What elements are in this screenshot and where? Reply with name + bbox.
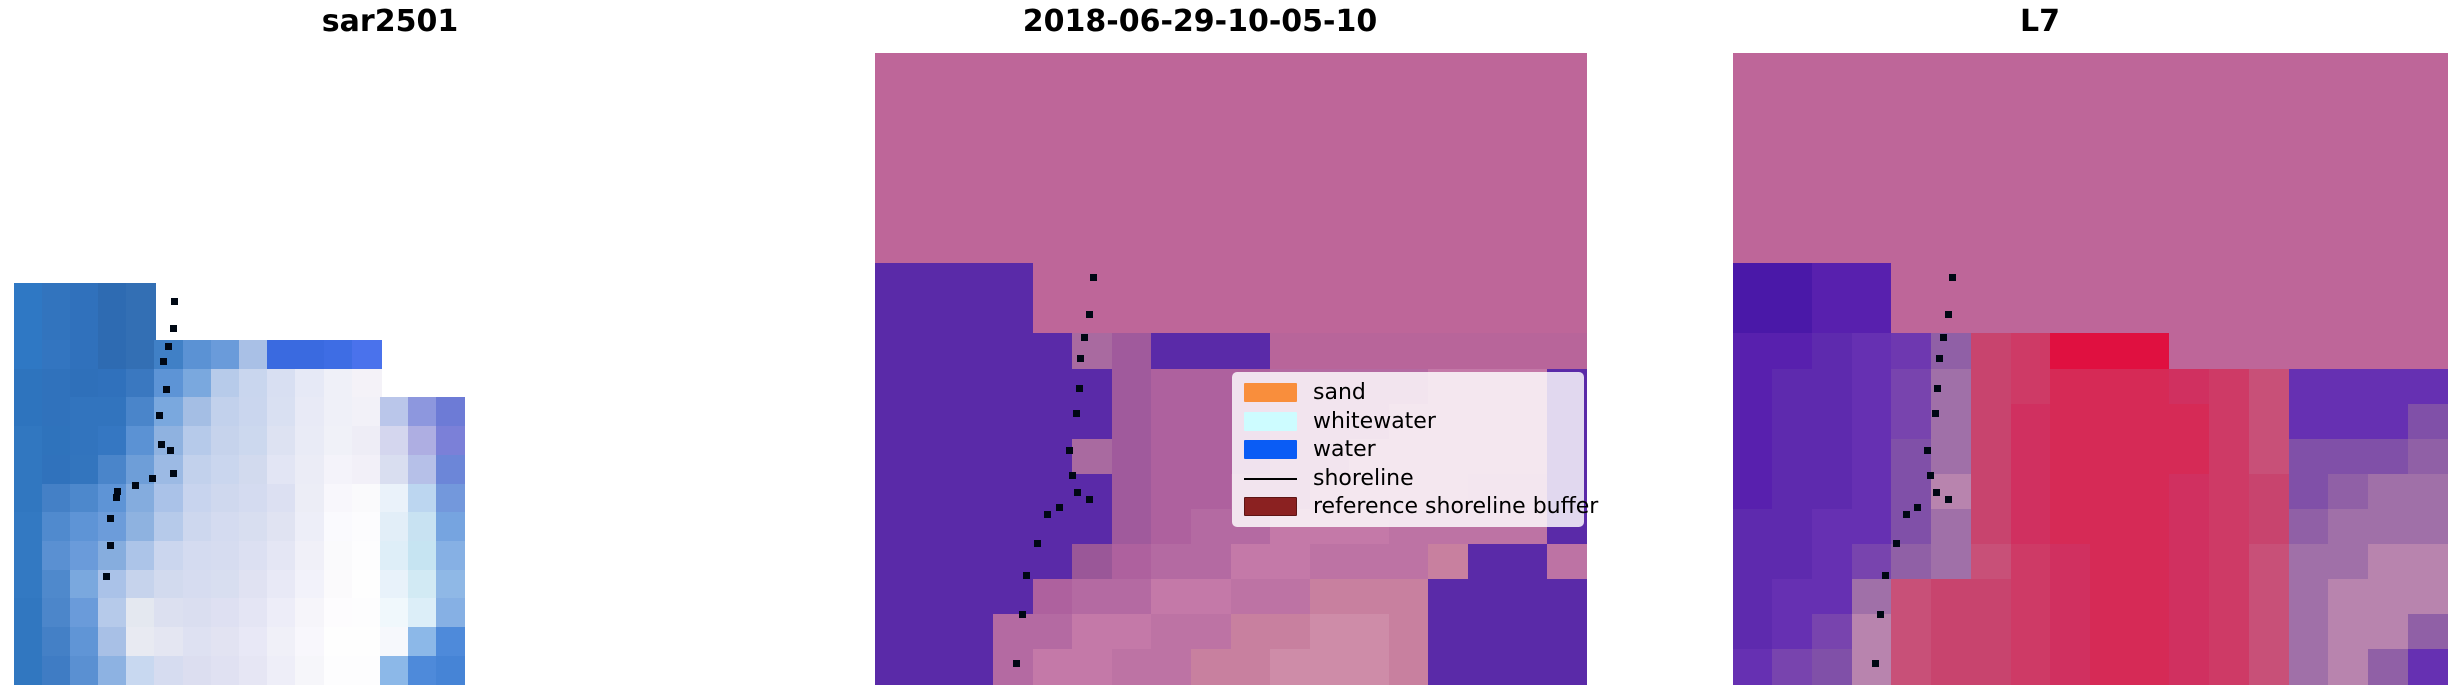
panel-title-l7: L7 — [1620, 2, 2460, 42]
legend-label-sand: sand — [1313, 380, 1366, 405]
legend-swatch-shoreline-line — [1244, 469, 1297, 488]
legend-item-water: water — [1244, 437, 1574, 462]
legend-item-reference-shoreline-buffer: reference shoreline buffer — [1244, 494, 1574, 519]
legend-label-whitewater: whitewater — [1313, 409, 1436, 434]
panel-sar2501: sar2501 — [0, 0, 780, 697]
raster-axes-2018 — [875, 53, 1587, 685]
legend-label-water: water — [1313, 437, 1376, 462]
legend-item-shoreline: shoreline — [1244, 466, 1574, 491]
panel-title-2018-06-29-10-05-10: 2018-06-29-10-05-10 — [780, 2, 1620, 42]
shoreline-overlay-sar2501 — [14, 283, 465, 685]
legend-label-reference-shoreline-buffer: reference shoreline buffer — [1313, 494, 1598, 519]
legend-label-shoreline: shoreline — [1313, 466, 1414, 491]
legend-box: sand whitewater water shoreline referenc… — [1232, 372, 1584, 527]
shoreline-overlay-l7 — [1733, 53, 2448, 685]
panel-l7: L7 — [1620, 0, 2460, 697]
legend-swatch-water — [1244, 440, 1297, 459]
raster-axes-l7 — [1733, 53, 2448, 685]
panel-title-sar2501: sar2501 — [0, 2, 780, 42]
panel-2018-06-29-10-05-10: 2018-06-29-10-05-10 — [780, 0, 1620, 697]
raster-axes-sar2501 — [14, 283, 465, 685]
legend-swatch-reference-buffer — [1244, 497, 1297, 516]
legend-swatch-whitewater — [1244, 412, 1297, 431]
legend-item-sand: sand — [1244, 380, 1574, 405]
legend-item-whitewater: whitewater — [1244, 409, 1574, 434]
legend-swatch-sand — [1244, 383, 1297, 402]
shoreline-overlay-2018 — [875, 53, 1587, 685]
figure-canvas: sar2501 2018-06-29-10-05-10 L7 sand whit… — [0, 0, 2460, 697]
